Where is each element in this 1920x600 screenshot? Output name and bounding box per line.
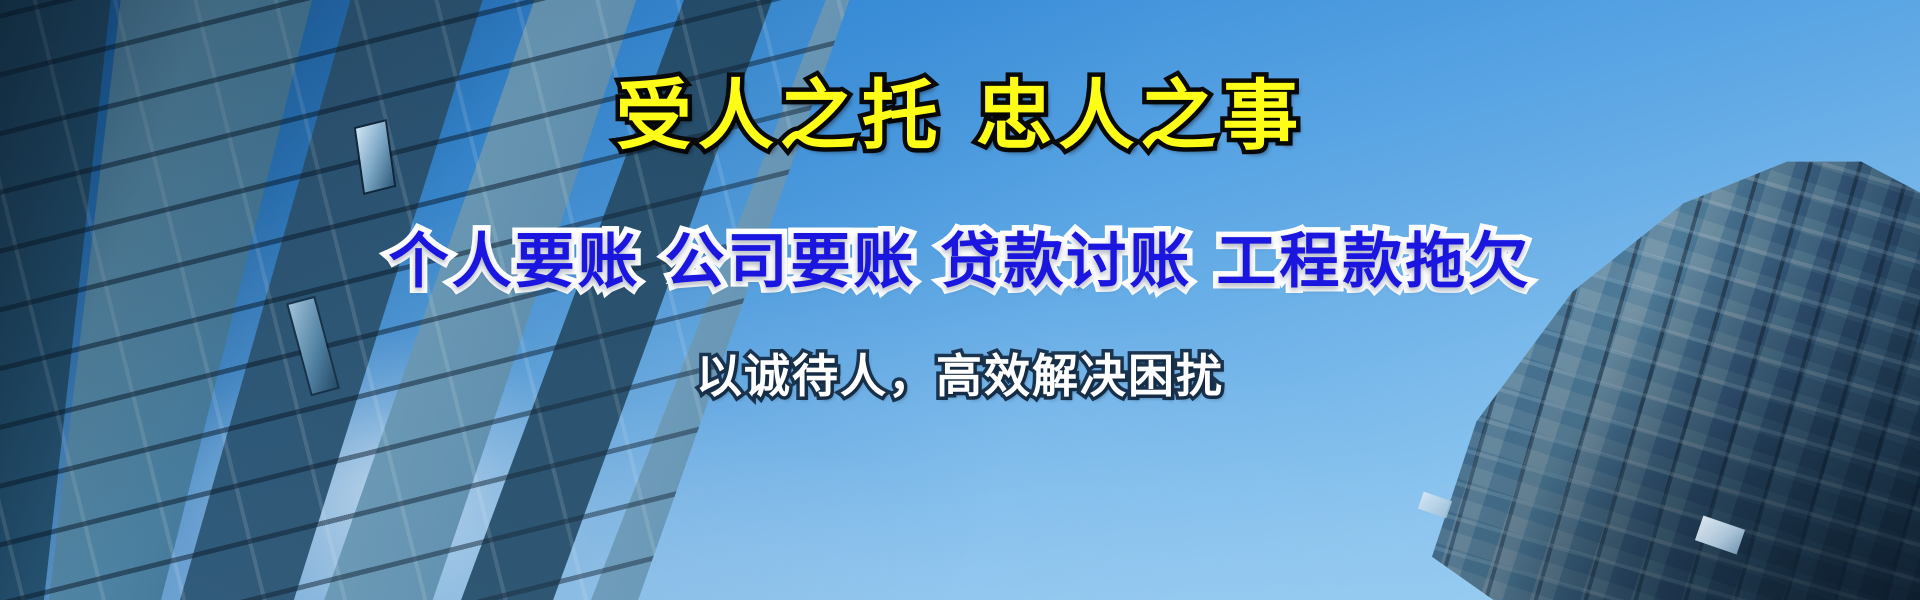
banner-services-line: 个人要账 公司要账 贷款讨账 工程款拖欠 [0,232,1920,292]
banner-text-layer: 受人之托 忠人之事 个人要账 公司要账 贷款讨账 工程款拖欠 以诚待人，高效解决… [0,0,1920,600]
banner-subtitle: 以诚待人，高效解决困扰 [0,353,1920,399]
banner-headline: 受人之托 忠人之事 [0,78,1920,154]
promo-banner: 受人之托 忠人之事 个人要账 公司要账 贷款讨账 工程款拖欠 以诚待人，高效解决… [0,0,1920,600]
